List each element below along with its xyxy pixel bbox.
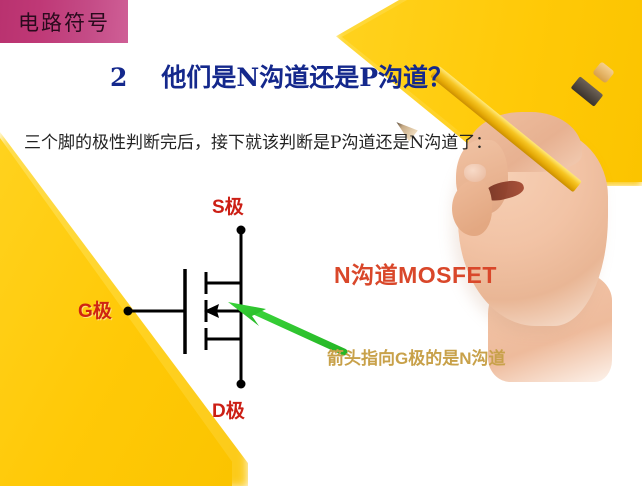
thumb-shape — [452, 180, 492, 236]
fingernail-shape — [464, 164, 486, 182]
page-title-number: 2 — [110, 63, 127, 92]
section-badge-label: 电路符号 — [18, 7, 110, 37]
terminal-label-gate: G极 — [78, 296, 112, 323]
page-title: 2他们是N沟道还是P沟道？ — [110, 58, 530, 94]
section-badge: 电路符号 — [0, 0, 128, 43]
terminal-label-drain: D极 — [212, 396, 245, 423]
page-title-text: 他们是N沟道还是P沟道？ — [161, 63, 453, 92]
terminal-label-source: S极 — [212, 192, 244, 219]
body-paragraph: 三个脚的极性判断完后，接下就该判断是P沟道还是N沟道了： — [24, 128, 492, 153]
callout-title: N沟道MOSFET — [334, 256, 497, 290]
slide-canvas: 电路符号 2他们是N沟道还是P沟道？ 三个脚的极性判断完后，接下就该判断是P沟道… — [0, 0, 642, 486]
callout-caption: 箭头指向G极的是N沟道 — [327, 344, 506, 369]
